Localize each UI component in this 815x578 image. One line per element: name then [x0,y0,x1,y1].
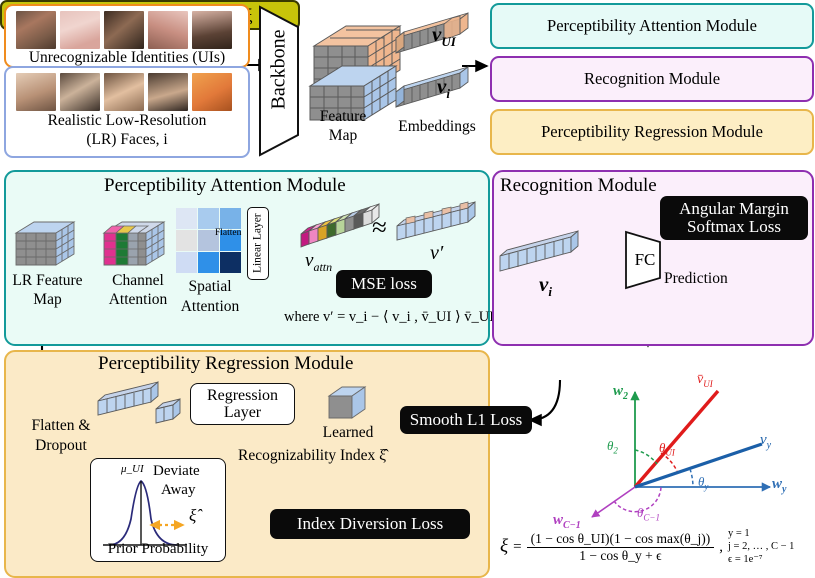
spatial-attention-label-line1: Spatial [172,278,248,296]
regression-module-title: Perceptibility Regression Module [98,353,353,375]
prior-probability-box: μ_UI Deviate Away ξ̂ Prior Probability [90,458,226,562]
face-thumbnail [60,73,100,111]
angular-margin-softmax-loss-chip: Angular Margin Softmax Loss [660,196,808,240]
unrecognizable-identities-box: Unrecognizable Identities (UIs) [4,4,250,68]
approx-symbol: ≈ [372,212,387,243]
pill-recognition-module[interactable]: Recognition Module [490,56,814,102]
regression-layer-line1: Regression [207,387,278,404]
index-diversion-loss-chip: Index Diversion Loss [270,509,470,539]
angle-label-thetay: θy [698,474,708,492]
face-thumbnail [192,73,232,111]
xi-hat-label: ξ̂ [189,507,196,525]
regression-layer-box: Regression Layer [190,383,295,425]
formula-equals: = [513,539,521,556]
recognition-embedding-label: vi [539,272,552,300]
fc-label: FC [629,250,661,270]
face-thumbnail [192,11,232,49]
linear-layer-box: Linear Layer [247,207,269,280]
attention-module-title: Perceptibility Attention Module [104,175,346,197]
pill-perceptibility-regression-module[interactable]: Perceptibility Regression Module [490,109,814,155]
prior-probability-caption: Prior Probability [91,541,225,557]
channel-attention-label-line1: Channel [98,272,178,290]
lr-box-caption-line2: (LR) Faces, i [6,131,248,149]
lr-faces-box: Realistic Low-Resolution (LR) Faces, i [4,66,250,158]
deviate-line2: Away [161,482,195,498]
smooth-l1-loss-chip: Smooth L1 Loss [400,406,532,434]
formula-numerator: (1 − cos θ_UI)(1 − cos max(θ_j)) [527,531,715,548]
formula-conditions: y = 1 j = 2, … , C − 1 ϵ = 1e⁻⁷ [728,528,794,566]
embeddings-label: Embeddings [382,118,492,136]
angle-label-thetac1: θC−1 [637,505,660,523]
recognizability-index-label: Recognizability Index ξ̂ [238,447,386,465]
mu-ui-label: μ_UI [121,464,144,476]
linear-layer-label: Linear Layer [252,214,264,274]
ui-face-strip [16,11,232,49]
face-thumbnail [60,11,100,49]
pill-label: Perceptibility Attention Module [547,16,757,36]
face-thumbnail [104,11,144,49]
v-attn-label: vattn [305,250,332,275]
pill-label: Perceptibility Regression Module [541,122,763,142]
learned-label: Learned [296,424,400,442]
vector-label-vy: vy [760,432,771,451]
face-thumbnail [16,73,56,111]
vector-label-vui: v̄UI [697,372,713,389]
loss-line1: Angular Margin [679,200,789,218]
embedding-ui-label: vUI [432,22,456,50]
condition-eps: ϵ = 1e⁻⁷ [728,554,794,567]
formula-xi: ξ [500,536,508,558]
angle-label-theta2: θ2 [607,438,618,456]
formula-denominator: 1 − cos θ_y + ϵ [527,548,715,564]
mse-loss-chip: MSE loss [336,270,432,298]
deviate-line1: Deviate [153,463,200,479]
face-thumbnail [148,11,188,49]
regression-layer-line2: Layer [224,404,261,421]
pill-label: Recognition Module [584,69,720,89]
ui-box-caption: Unrecognizable Identities (UIs) [6,49,248,67]
spatial-attention-label-line2: Attention [164,298,256,316]
condition-j: j = 2, … , C − 1 [728,541,794,554]
v-prime-label: v′ [430,242,443,265]
prediction-label: Prediction [664,270,728,288]
face-thumbnail [104,73,144,111]
flatten-dropout-line2: Dropout [6,437,116,455]
mse-loss-label: MSE loss [351,275,417,293]
embedding-i-label: vi [437,74,450,102]
lr-face-strip [16,73,232,111]
pill-perceptibility-attention-module[interactable]: Perceptibility Attention Module [490,3,814,49]
smooth-l1-loss-label: Smooth L1 Loss [410,411,522,429]
recognition-module-title: Recognition Module [500,175,657,197]
face-thumbnail [16,11,56,49]
index-diversion-loss-label: Index Diversion Loss [297,515,443,533]
face-thumbnail [148,73,188,111]
loss-line2: Softmax Loss [687,218,781,236]
condition-y: y = 1 [728,528,794,541]
lr-feature-map-label-line1: LR Feature [0,272,95,290]
axis-label-w2: w2 [613,383,628,402]
formula-comma: , [719,539,723,556]
ri-formula: ξ = (1 − cos θ_UI)(1 − cos max(θ_j)) 1 −… [500,528,794,566]
angle-label-thetaui: θUI [659,440,675,458]
axis-label-wy: wy [772,476,786,495]
where-formula: where v′ = v_i − ⟨ v_i , v̄_UI ⟩ v̄_UI [284,309,494,326]
lr-feature-map-label-line2: Map [0,291,95,309]
formula-fraction: (1 − cos θ_UI)(1 − cos max(θ_j)) 1 − cos… [527,531,715,564]
flatten-label: Flatten [215,228,241,238]
lr-box-caption-line1: Realistic Low-Resolution [6,112,248,130]
